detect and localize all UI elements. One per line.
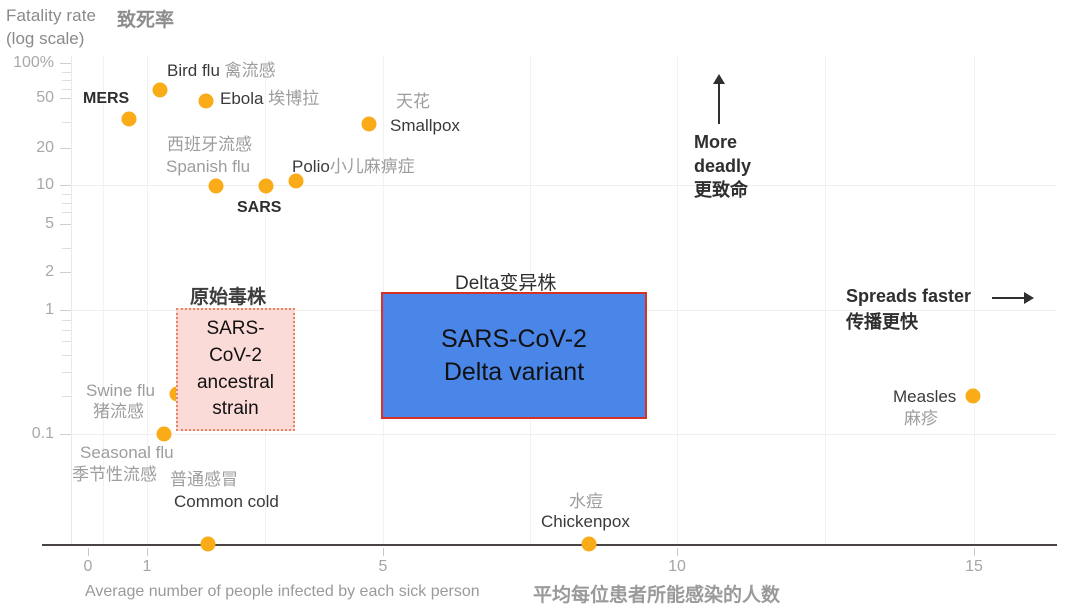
y-tick-mark	[60, 98, 71, 99]
y-tick-mark-minor	[62, 396, 71, 397]
ancestral-box-line2: CoV-2	[197, 343, 274, 370]
arrow-up-icon	[718, 82, 720, 124]
point-label-measles-cn: 麻疹	[904, 409, 938, 428]
horizontal-gridline	[71, 434, 1057, 435]
x-tick-label-1: 1	[143, 558, 152, 576]
y-tick-mark-minor	[62, 72, 71, 73]
more-deadly-line1: More	[694, 131, 751, 155]
point-label-smallpox-en: Smallpox	[390, 116, 460, 135]
chart-canvas: Fatality rate 致死率 (log scale) 100% 50 20…	[0, 0, 1080, 609]
ancestral-box-line3: ancestral	[197, 370, 274, 397]
vertical-gridline	[677, 56, 678, 544]
y-axis-scale-note: (log scale)	[6, 29, 84, 49]
y-tick-mark-minor	[62, 122, 71, 123]
y-tick-mark	[60, 434, 71, 435]
point-label-mers: MERS	[83, 90, 129, 108]
y-tick-mark	[60, 310, 71, 311]
x-tick-label-0: 0	[84, 558, 93, 576]
point-label-bird-flu-en: Bird flu	[167, 61, 220, 80]
point-label-swine-flu-cn: 猪流感	[93, 402, 144, 421]
data-point-chickenpox[interactable]	[582, 537, 597, 552]
y-tick-mark-minor	[62, 341, 71, 342]
ancestral-box-line4: strain	[197, 396, 274, 423]
ancestral-strain-box[interactable]: SARS- CoV-2 ancestral strain	[176, 308, 295, 431]
y-tick-mark	[60, 224, 71, 225]
y-tick-mark-minor	[62, 372, 71, 373]
more-deadly-cn: 更致命	[694, 179, 751, 203]
point-label-seasonal-flu-en: Seasonal flu	[80, 443, 174, 462]
y-tick-label-5: 5	[4, 215, 54, 233]
y-tick-mark-minor	[62, 212, 71, 213]
y-axis-title-en: Fatality rate	[6, 6, 96, 26]
x-tick-mark	[383, 548, 384, 556]
y-tick-label-100: 100%	[4, 54, 54, 72]
data-point-sars[interactable]	[259, 179, 274, 194]
y-tick-mark-minor	[62, 248, 71, 249]
x-tick-label-5: 5	[379, 558, 388, 576]
point-label-polio-en: Polio	[292, 157, 330, 176]
data-point-smallpox[interactable]	[362, 117, 377, 132]
y-tick-label-0.1: 0.1	[4, 425, 54, 443]
y-tick-label-10: 10	[4, 176, 54, 194]
y-tick-mark-minor	[62, 203, 71, 204]
point-label-measles-en: Measles	[893, 387, 956, 406]
delta-variant-box[interactable]: SARS-CoV-2 Delta variant	[381, 292, 647, 419]
delta-box-line2: Delta variant	[441, 356, 587, 389]
delta-box-title: Delta变异株	[455, 268, 556, 295]
x-tick-mark	[147, 548, 148, 556]
data-point-bird-flu[interactable]	[153, 83, 168, 98]
vertical-gridline	[974, 56, 975, 544]
x-axis-line	[42, 544, 1057, 546]
data-point-mers[interactable]	[122, 112, 137, 127]
data-point-seasonal-flu[interactable]	[157, 427, 172, 442]
point-label-spanish-flu-cn: 西班牙流感	[167, 135, 252, 154]
more-deadly-line2: deadly	[694, 155, 751, 179]
point-label-bird-flu-cn: 禽流感	[225, 61, 276, 80]
y-tick-mark-minor	[62, 80, 71, 81]
spreads-faster-annotation-cn: 传播更快	[846, 308, 918, 334]
x-tick-label-15: 15	[965, 558, 983, 576]
x-tick-mark	[88, 548, 89, 556]
y-tick-mark-minor	[62, 89, 71, 90]
point-label-chickenpox-en: Chickenpox	[541, 512, 630, 531]
point-label-swine-flu-en: Swine flu	[86, 381, 155, 400]
y-tick-mark	[60, 148, 71, 149]
y-tick-mark-minor	[62, 355, 71, 356]
more-deadly-annotation: More deadly 更致命	[694, 131, 751, 202]
x-axis-title-en: Average number of people infected by eac…	[85, 583, 480, 601]
x-axis-title-cn: 平均每位患者所能感染的人数	[533, 580, 780, 607]
point-label-ebola: Ebola 埃博拉	[220, 89, 319, 108]
y-tick-label-20: 20	[4, 139, 54, 157]
ancestral-box-line1: SARS-	[197, 316, 274, 343]
data-point-spanish-flu[interactable]	[209, 179, 224, 194]
data-point-ebola[interactable]	[199, 94, 214, 109]
point-label-common-cold-en: Common cold	[174, 492, 279, 511]
x-tick-mark	[974, 548, 975, 556]
vertical-gridline	[825, 56, 826, 544]
arrow-right-icon	[992, 297, 1032, 299]
delta-box-line1: SARS-CoV-2	[441, 323, 587, 356]
point-label-seasonal-flu-cn: 季节性流感	[72, 465, 157, 484]
data-point-common-cold[interactable]	[201, 537, 216, 552]
point-label-bird-flu: Bird flu 禽流感	[167, 61, 276, 80]
spreads-faster-annotation-en: Spreads faster	[846, 286, 971, 307]
y-axis-title-cn: 致死率	[117, 5, 174, 32]
y-tick-mark	[60, 185, 71, 186]
point-label-common-cold-cn: 普通感冒	[170, 470, 238, 489]
data-point-measles[interactable]	[966, 389, 981, 404]
point-label-polio-cn: 小儿麻痹症	[330, 157, 415, 176]
y-tick-mark-minor	[62, 194, 71, 195]
point-label-polio: Polio小儿麻痹症	[292, 157, 415, 176]
x-tick-label-10: 10	[668, 558, 686, 576]
point-label-ebola-cn: 埃博拉	[268, 89, 319, 108]
y-tick-label-1: 1	[4, 301, 54, 319]
point-label-spanish-flu-en: Spanish flu	[166, 157, 250, 176]
point-label-smallpox-cn: 天花	[396, 92, 430, 111]
y-tick-mark-minor	[62, 330, 71, 331]
y-tick-label-50: 50	[4, 89, 54, 107]
y-tick-mark	[60, 272, 71, 273]
ancestral-box-title: 原始毒株	[190, 282, 266, 309]
x-tick-mark	[677, 548, 678, 556]
point-label-chickenpox-cn: 水痘	[569, 492, 603, 511]
point-label-sars: SARS	[237, 199, 281, 217]
point-label-ebola-en: Ebola	[220, 89, 263, 108]
y-tick-mark-minor	[62, 320, 71, 321]
y-tick-mark	[60, 63, 71, 64]
y-tick-label-2: 2	[4, 263, 54, 281]
